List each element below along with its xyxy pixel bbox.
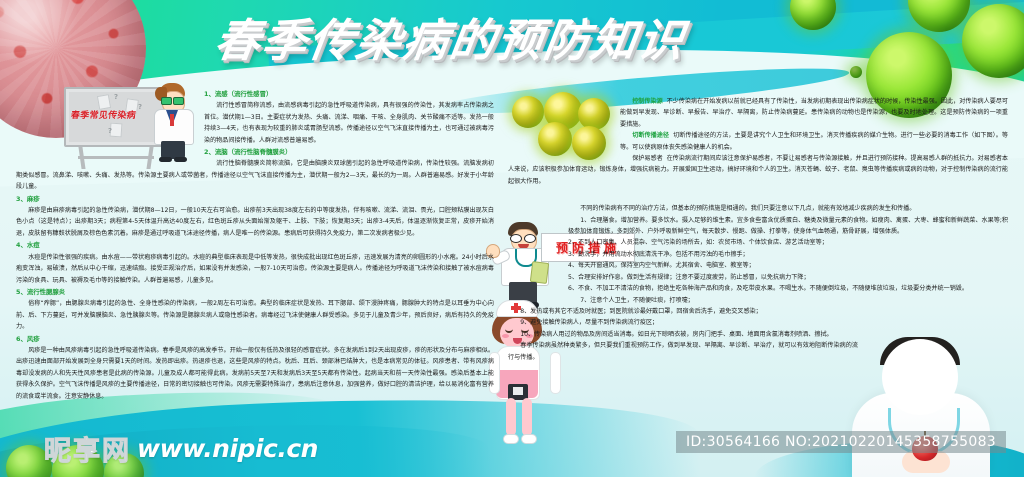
left-text-column: 1、流感（流行性感冒） 流行性感冒简称流感，由流感病毒引起的急性呼吸道传染病，具…: [16, 88, 494, 402]
image-id-badge: ID:30564166 NO:20210220145358755083: [676, 431, 1006, 453]
section-heading-measles: 3、麻疹: [16, 194, 494, 205]
nurse-leg-right: [522, 398, 532, 436]
measure-item-2: 2、不到人口密集、人员混杂、空气污染的场所去，如：农贸市场、个体饮食店、游艺活动…: [508, 237, 1008, 248]
prevention-point-1-label: 控制传染源: [632, 98, 663, 105]
photo-doctor-with-apple: [836, 357, 1006, 477]
right-text-column: 控制传染源 不少传染病在开始发病以前就已经具有了传染性，当发病初期表现出传染病症…: [508, 96, 1008, 375]
nurse-leg-left: [506, 398, 516, 436]
prevention-point-2-label: 切断传播途径: [632, 132, 669, 139]
page-title: 春季传染病的预防知识: [146, 12, 754, 70]
section-heading-mumps: 5、流行性腮腺炎: [16, 287, 494, 298]
prevention-point-2-body: 切断传播途径的方法，主要是讲究个人卫生和环境卫生。消灭传播疾病的媒介生物。进行一…: [620, 132, 1008, 150]
nurse-shoe-left: [503, 434, 519, 444]
doctor-nurse-art-spacer: [508, 187, 568, 295]
measure-item-5: 5、合理安排好作息。做到生活有规律；注意不要过度疲劳，防止感冒，以免抗病力下降；: [508, 272, 1008, 283]
photo-doctor-spacer: [858, 295, 1008, 375]
nurse-shoe-right: [521, 434, 537, 444]
section-body-rubella: 风疹是一种由风疹病毒引起的急性呼吸道传染病。春季是风疹的高发季节。开始一般仅有低…: [16, 345, 494, 402]
section-heading-chickenpox: 4、水痘: [16, 240, 494, 251]
prevention-point-1-body: 不少传染病在开始发病以前就已经具有了传染性，当发病初期表现出传染病症状的时候，传…: [620, 98, 1008, 128]
left-illustration-spacer: [16, 88, 204, 168]
prevention-point-3-label: 保护易感者: [632, 155, 663, 162]
measure-item-6: 6、不食、不加工不清洁的食物，拒绝生吃各种海产品和肉食，及吃带皮水果。不喝生水。…: [508, 283, 1008, 294]
measures-intro: 不同的传染病有不同的治疗方法，但基本的预防措施是相通的。我们只要注意以下几点，就…: [508, 203, 1008, 214]
section-heading-rubella: 6、风疹: [16, 334, 494, 345]
measure-item-3: 3、勤洗手，并用流动水彻底清洗干净。包括不用污浊的毛巾擦手；: [508, 249, 1008, 260]
poster-canvas: 春季传染病的预防知识 ? ? ? 春季常见传染病: [0, 0, 1024, 477]
germ-art-spacer: [508, 96, 620, 160]
measure-item-4: 4、每天开窗通风，保持室内空气新鲜。尤其宿舍、电脑室、教室等；: [508, 260, 1008, 271]
green-germ-icon: [850, 66, 862, 78]
section-body-measles: 麻疹是由麻疹病毒引起的急性传染病，潜伏期8—12日，一般10天左右可治愈。出疹前…: [16, 205, 494, 239]
section-body-chickenpox: 水痘是传染性很强的疾病。由水痘——带状疱疹病毒引起的。水痘的典型临床表现是中低等…: [16, 252, 494, 286]
measure-item-1: 1、合理膳食。增加营养。要多饮水。摄入足够的维生素。宜多食些富含优质蛋白、糖类及…: [508, 215, 1008, 238]
section-body-mumps: 俗称“痄腮”，由腮腺炎病毒引起的急性、全身性感染的传染病，一般2周左右可治愈。典…: [16, 298, 494, 332]
